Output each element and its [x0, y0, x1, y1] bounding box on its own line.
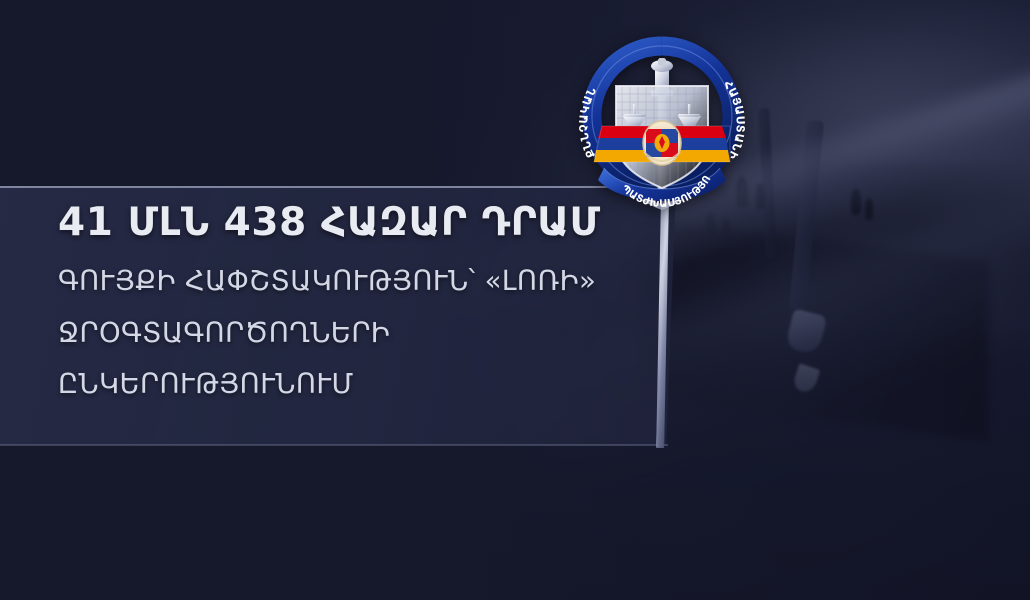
subtitle-line-2: ՋՐՕԳՏԱԳՈՐԾՈՂՆԵՐԻ — [58, 320, 390, 348]
subtitle-line-3: ԸՆԿԵՐՈՒԹՅՈՒՆՈՒՄ — [58, 371, 354, 399]
subtitle-line-1: ԳՈՒՅՔԻ ՀԱՓՇՏԱԿՈՒԹՅՈՒՆ՝ «ԼՈՌԻ» — [58, 268, 596, 296]
page-title: 41 ՄԼՆ 438 ՀԱԶԱՐ ԴՐԱՄ — [58, 203, 601, 242]
news-banner-image: 41 ՄԼՆ 438 ՀԱԶԱՐ ԴՐԱՄ ԳՈՒՅՔԻ ՀԱՓՇՏԱԿՈՒԹՅ… — [0, 0, 1030, 600]
armenian-investigative-committee-emblem: ՔՆՆՉԱԿԱՆ ՀԱՅԱՍՏԱՆԻ ՊԱՏԺԽԱՍՅՈՒԹՅՈՒՆ — [578, 28, 746, 210]
headline-panel-bottom-edge — [0, 444, 668, 446]
armenian-coat-of-arms — [643, 121, 681, 165]
